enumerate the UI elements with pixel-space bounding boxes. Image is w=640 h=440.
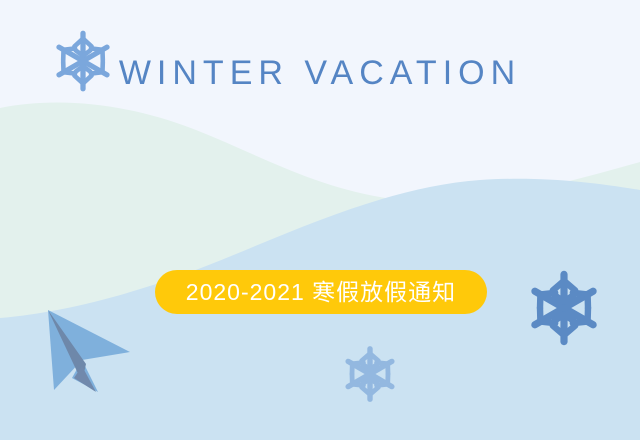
winter-vacation-banner: WINTER VACATION 2020-2021 寒假放假通知	[0, 0, 640, 440]
snowflake-icon	[340, 344, 400, 404]
notice-badge[interactable]: 2020-2021 寒假放假通知	[155, 270, 487, 314]
snowflake-icon	[524, 268, 604, 348]
notice-badge-label: 2020-2021 寒假放假通知	[186, 270, 456, 314]
snowflake-icon	[50, 28, 116, 94]
paper-plane-icon	[38, 306, 134, 398]
